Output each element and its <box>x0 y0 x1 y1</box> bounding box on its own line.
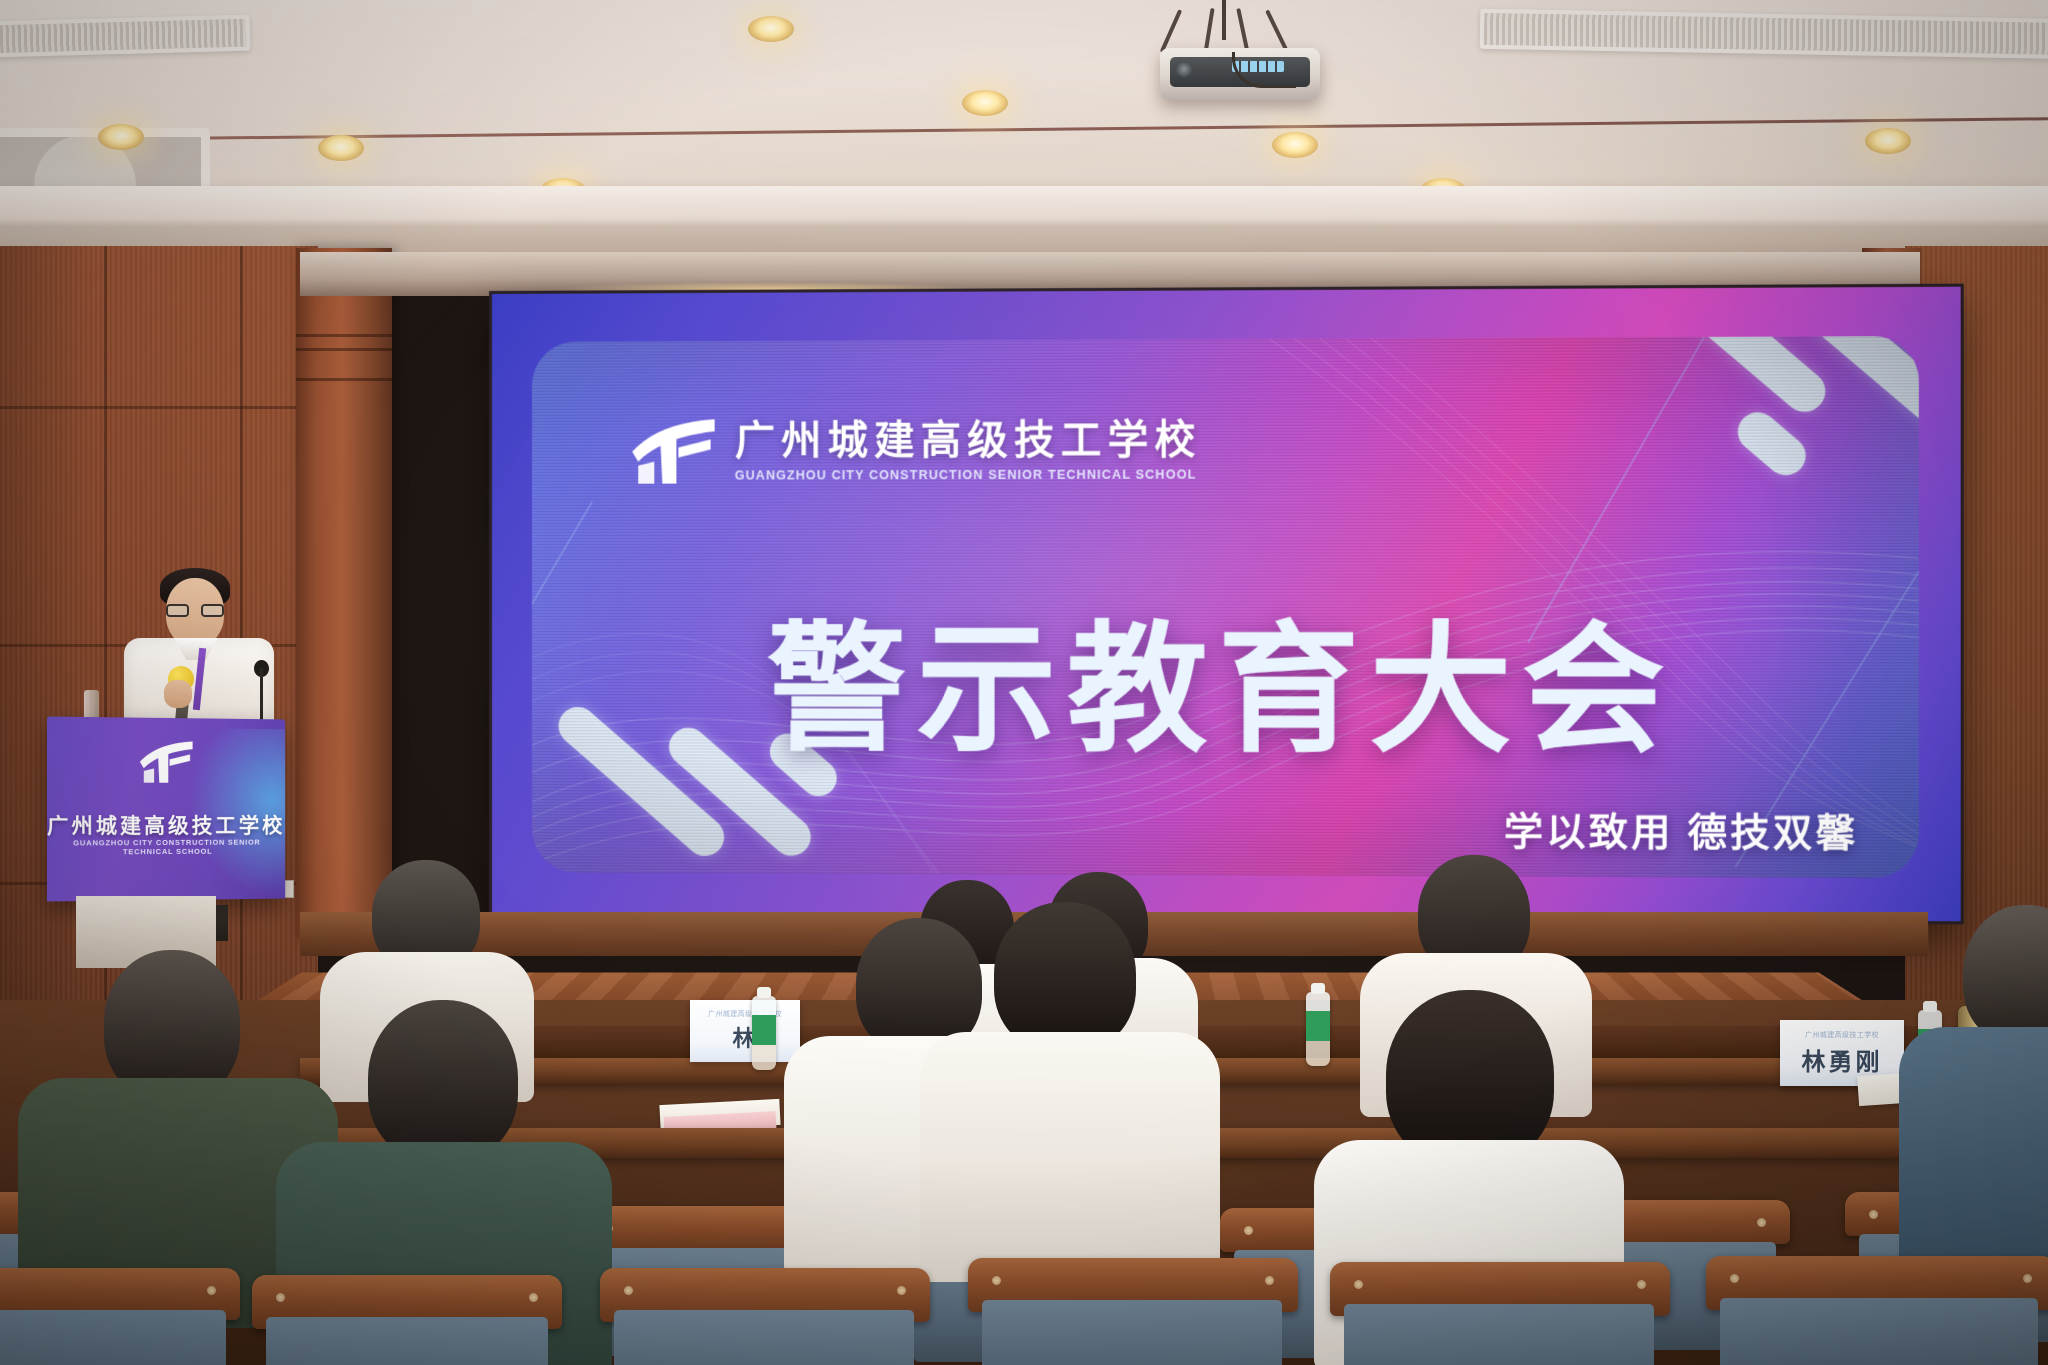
school-name-cn: 广州城建高级技工学校 <box>735 419 1202 463</box>
school-logo: 广州城建高级技工学校 GUANGZHOU CITY CONSTRUCTION S… <box>630 416 1201 486</box>
placard-name: 林勇刚 <box>1802 1042 1883 1077</box>
downlight <box>962 90 1008 116</box>
seat-cushion <box>614 1310 914 1365</box>
auditorium-seat-foreground <box>252 1275 562 1365</box>
school-logo-mark-icon <box>630 417 718 485</box>
led-screen: 广州城建高级技工学校 GUANGZHOU CITY CONSTRUCTION S… <box>492 287 1961 922</box>
hvac-vent <box>1480 9 2048 59</box>
person-torso <box>920 1032 1220 1282</box>
podium: 广州城建高级技工学校 GUANGZHOU CITY CONSTRUCTION S… <box>47 716 285 901</box>
person-head <box>994 902 1136 1052</box>
podium-school-name-cn: 广州城建高级技工学校 <box>47 810 285 841</box>
placard-header: 广州城建高级技工学校 <box>1805 1030 1879 1040</box>
wall-pillar-left <box>296 248 392 938</box>
name-placard: 广州城建高级技工学校 林 <box>690 1000 800 1062</box>
water-bottle <box>752 996 776 1070</box>
downlight <box>1272 132 1318 158</box>
podium-school-name-en: GUANGZHOU CITY CONSTRUCTION SENIOR TECHN… <box>47 838 285 857</box>
seat-cushion <box>1344 1304 1654 1365</box>
ceiling <box>0 0 2048 255</box>
auditorium-seat-foreground <box>600 1268 930 1365</box>
school-name-en: GUANGZHOU CITY CONSTRUCTION SENIOR TECHN… <box>735 467 1202 482</box>
seat-cushion <box>266 1317 548 1365</box>
slide-slogan: 学以致用 德技双馨 <box>1504 800 1858 857</box>
hvac-vent <box>0 15 250 58</box>
auditorium-seat-foreground <box>1330 1262 1670 1365</box>
auditorium-seat-foreground <box>1706 1256 2048 1365</box>
person-torso <box>1899 1027 2048 1277</box>
downlight <box>318 135 364 161</box>
downlight <box>98 124 144 150</box>
downlight <box>1865 128 1911 154</box>
podium-logo-mark-icon <box>138 740 196 784</box>
auditorium-seat-foreground <box>968 1258 1298 1365</box>
slide-title: 警示教育大会 <box>532 620 1919 762</box>
downlight <box>748 16 794 42</box>
person-head <box>368 1000 518 1162</box>
seat-cushion <box>982 1300 1282 1365</box>
glasses-icon <box>166 604 224 617</box>
water-bottle <box>1306 992 1330 1066</box>
seat-cushion <box>0 1310 226 1365</box>
auditorium-seat-foreground <box>0 1268 240 1365</box>
projector-lens-icon <box>1176 61 1192 77</box>
seat-cushion <box>1720 1298 2038 1365</box>
speaker-hand <box>164 680 192 708</box>
speaker-at-podium <box>120 568 280 733</box>
school-logo-text: 广州城建高级技工学校 GUANGZHOU CITY CONSTRUCTION S… <box>735 419 1202 482</box>
ceiling-trim-line <box>0 117 2048 141</box>
led-slide-panel: 广州城建高级技工学校 GUANGZHOU CITY CONSTRUCTION S… <box>532 336 1919 878</box>
conference-hall-photo: 广州城建高级技工学校 GUANGZHOU CITY CONSTRUCTION S… <box>0 0 2048 1365</box>
